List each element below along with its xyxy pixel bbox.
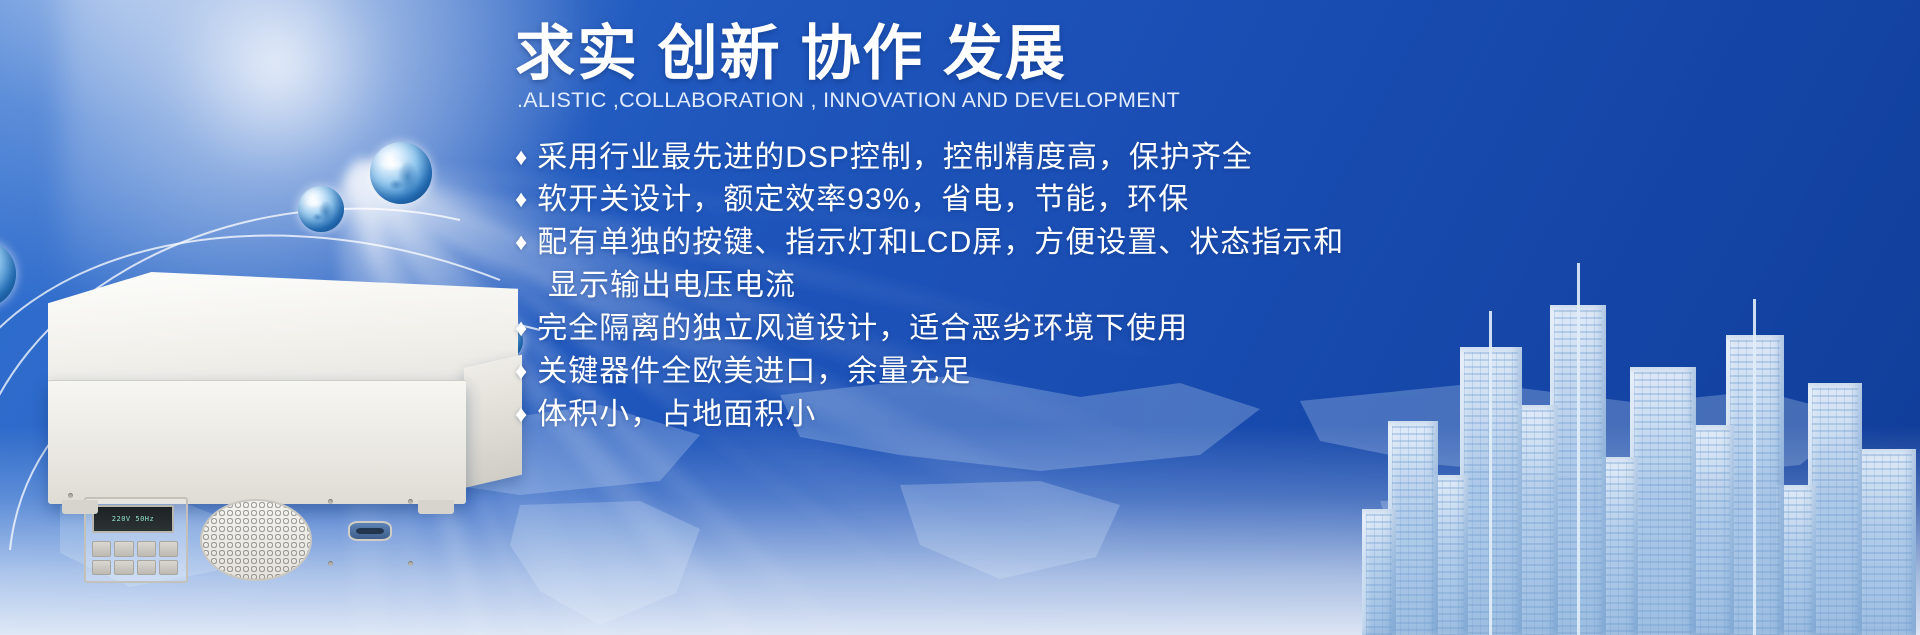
feature-list: ♦采用行业最先进的DSP控制，控制精度高，保护齐全♦软开关设计，额定效率93%，… bbox=[515, 137, 1515, 437]
building bbox=[1388, 421, 1438, 635]
screw-icon bbox=[328, 499, 333, 504]
lcd-display: 220V 50Hz bbox=[92, 505, 174, 533]
building bbox=[1776, 485, 1816, 635]
diamond-bullet-icon: ♦ bbox=[515, 179, 528, 220]
diamond-bullet-icon: ♦ bbox=[515, 394, 528, 435]
subtitle: .ALISTIC ,COLLABORATION , INNOVATION AND… bbox=[517, 88, 1515, 113]
building bbox=[1688, 425, 1734, 635]
diamond-bullet-icon: ♦ bbox=[515, 351, 528, 392]
list-item-label: 配有单独的按键、指示灯和LCD屏，方便设置、状态指示和 bbox=[537, 222, 1344, 265]
screw-icon bbox=[328, 561, 333, 566]
list-item: ♦采用行业最先进的DSP控制，控制精度高，保护齐全 bbox=[515, 137, 1515, 180]
product-banner: 220V 50Hz bbox=[0, 0, 1920, 635]
globe-icon-3 bbox=[370, 142, 432, 204]
banner-text-block: 求实 创新 协作 发展 .ALISTIC ,COLLABORATION , IN… bbox=[515, 22, 1515, 437]
antenna-spire bbox=[1577, 263, 1580, 635]
rack-mount-power-supply-image: 220V 50Hz bbox=[48, 272, 518, 522]
antenna-spire bbox=[1753, 299, 1756, 635]
screw-icon bbox=[68, 493, 73, 498]
list-item: ♦完全隔离的独立风道设计，适合恶劣环境下使用 bbox=[515, 308, 1515, 351]
list-item-label: 采用行业最先进的DSP控制，控制精度高，保护齐全 bbox=[537, 137, 1253, 180]
diamond-bullet-icon: ♦ bbox=[515, 137, 528, 178]
list-item: ♦配有单独的按键、指示灯和LCD屏，方便设置、状态指示和 bbox=[515, 222, 1515, 265]
building bbox=[1726, 335, 1784, 635]
device-front-panel: 220V 50Hz bbox=[48, 380, 466, 504]
lcd-readout: 220V 50Hz bbox=[112, 515, 154, 523]
building bbox=[1362, 509, 1396, 635]
list-item-label: 体积小，占地面积小 bbox=[537, 394, 816, 437]
device-side-panel bbox=[464, 355, 522, 488]
building bbox=[1430, 475, 1468, 635]
db9-serial-port bbox=[348, 521, 392, 541]
building bbox=[1598, 457, 1638, 635]
list-item: ♦关键器件全欧美进口，余量充足 bbox=[515, 351, 1515, 394]
building bbox=[1550, 305, 1606, 635]
diamond-bullet-icon: ♦ bbox=[515, 308, 528, 349]
device-top-panel bbox=[48, 272, 518, 392]
building bbox=[1808, 383, 1862, 635]
keypad-key bbox=[137, 560, 156, 576]
screw-icon bbox=[408, 499, 413, 504]
keypad-key bbox=[114, 560, 133, 576]
keypad-key bbox=[92, 560, 111, 576]
list-item: ♦软开关设计，额定效率93%，省电，节能，环保 bbox=[515, 179, 1515, 222]
building bbox=[1854, 449, 1916, 635]
list-item-label: 显示输出电压电流 bbox=[548, 265, 796, 308]
globe-icon-2 bbox=[298, 186, 344, 232]
building bbox=[1630, 367, 1696, 635]
list-item-label: 完全隔离的独立风道设计，适合恶劣环境下使用 bbox=[537, 308, 1188, 351]
keypad-key bbox=[137, 541, 156, 557]
list-item-label: 软开关设计，额定效率93%，省电，节能，环保 bbox=[537, 179, 1189, 222]
keypad-key bbox=[159, 560, 178, 576]
keypad-key bbox=[114, 541, 133, 557]
diamond-bullet-icon: ♦ bbox=[515, 222, 528, 263]
keypad-key bbox=[159, 541, 178, 557]
list-item-label: 关键器件全欧美进口，余量充足 bbox=[537, 351, 971, 394]
keypad-key bbox=[92, 541, 111, 557]
globe-icon-1 bbox=[0, 240, 16, 308]
page-title: 求实 创新 协作 发展 bbox=[515, 22, 1515, 86]
building bbox=[1514, 405, 1558, 635]
ventilation-grille bbox=[200, 499, 312, 581]
keypad bbox=[92, 541, 178, 575]
device-foot bbox=[418, 500, 454, 514]
list-item: ♦体积小，占地面积小 bbox=[515, 394, 1515, 437]
list-item: ♦显示输出电压电流 bbox=[515, 265, 1515, 308]
device-foot bbox=[62, 500, 98, 514]
screw-icon bbox=[408, 561, 413, 566]
